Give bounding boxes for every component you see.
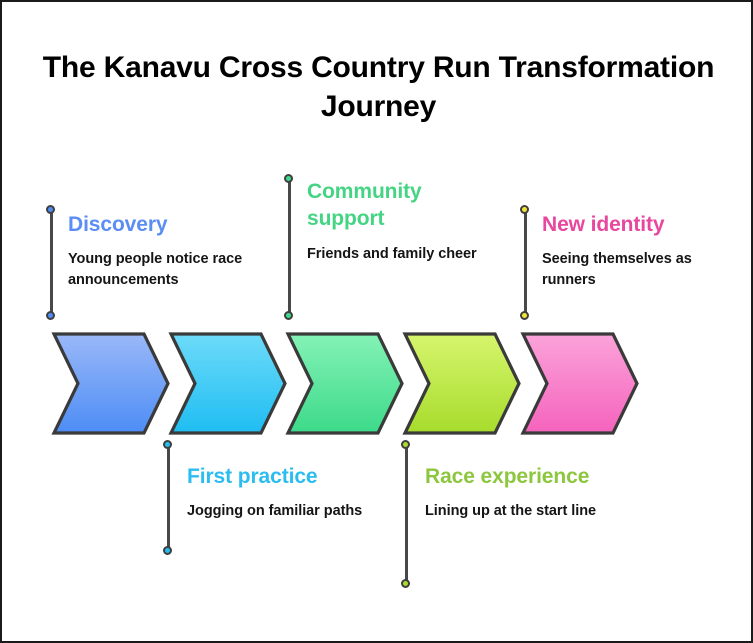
- stage-description: Jogging on familiar paths: [187, 501, 377, 522]
- stage-label-new-identity: New identity Seeing themselves as runner…: [542, 211, 728, 292]
- stage-title: Race experience: [425, 463, 617, 490]
- connector-line: [524, 209, 527, 316]
- stage-label-race-experience: Race experience Lining up at the start l…: [425, 463, 617, 522]
- connector-new-identity: [520, 205, 532, 320]
- connector-dot-top: [520, 205, 529, 214]
- connector-line: [167, 444, 170, 551]
- connector-dot-top: [163, 440, 172, 449]
- connector-community-support: [284, 174, 296, 320]
- stage-title: Community support: [307, 178, 479, 233]
- stage-label-discovery: Discovery Young people notice race annou…: [68, 211, 272, 292]
- stage-title: New identity: [542, 211, 728, 238]
- connector-dot-bottom: [46, 311, 55, 320]
- connector-dot-top: [401, 440, 410, 449]
- connector-discovery: [46, 205, 58, 320]
- stage-label-community-support: Community support Friends and family che…: [307, 178, 479, 265]
- stage-title: First practice: [187, 463, 377, 490]
- stage-description: Seeing themselves as runners: [542, 249, 728, 291]
- connector-dot-bottom: [520, 311, 529, 320]
- stage-label-first-practice: First practice Jogging on familiar paths: [187, 463, 377, 522]
- chevron-arrow-race-experience[interactable]: [403, 332, 521, 435]
- stage-description: Friends and family cheer: [307, 244, 479, 265]
- page-title: The Kanavu Cross Country Run Transformat…: [2, 48, 753, 126]
- diagram-canvas: The Kanavu Cross Country Run Transformat…: [0, 0, 753, 643]
- stage-description: Young people notice race announcements: [68, 249, 272, 291]
- connector-line: [50, 209, 53, 316]
- connector-dot-top: [46, 205, 55, 214]
- chevron-arrow-community-support[interactable]: [286, 332, 404, 435]
- connector-dot-bottom: [284, 311, 293, 320]
- connector-dot-top: [284, 174, 293, 183]
- stage-description: Lining up at the start line: [425, 501, 617, 522]
- connector-line: [405, 444, 408, 584]
- connector-first-practice: [163, 440, 175, 555]
- chevron-arrow-new-identity[interactable]: [521, 332, 639, 435]
- chevron-arrow-first-practice[interactable]: [169, 332, 287, 435]
- stage-title: Discovery: [68, 211, 272, 238]
- chevron-arrow-discovery[interactable]: [52, 332, 170, 435]
- connector-dot-bottom: [163, 546, 172, 555]
- connector-dot-bottom: [401, 579, 410, 588]
- connector-race-experience: [401, 440, 413, 588]
- connector-line: [288, 178, 291, 316]
